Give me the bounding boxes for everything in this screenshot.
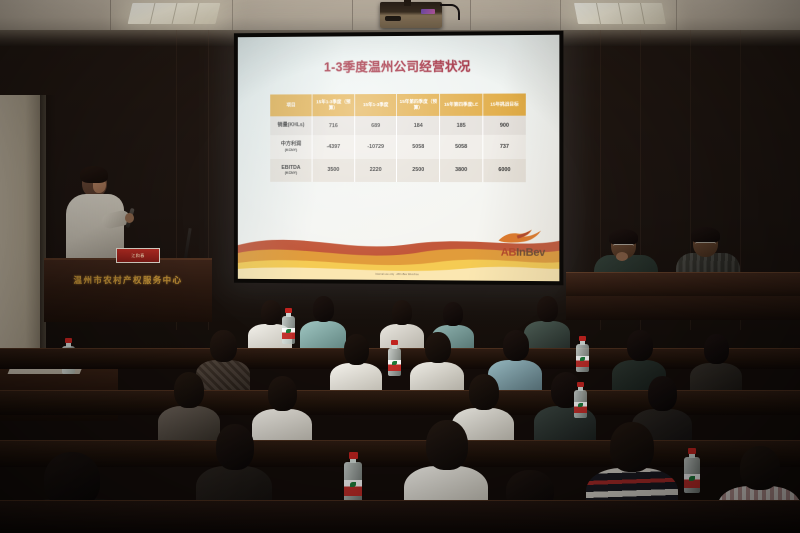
- cell-value: 2500: [397, 159, 440, 182]
- seated-man-hand: [616, 252, 628, 261]
- table-row: 中方利润 (KCNY) -4397 -10729 5058 5058 737: [270, 135, 526, 159]
- cell-value: 689: [354, 116, 396, 135]
- col-header-q4-budget: 15年第四季度（预算）: [397, 94, 440, 117]
- cell-value: -4397: [312, 135, 354, 158]
- cell-value: 3800: [440, 159, 483, 183]
- water-bottle: [344, 452, 362, 502]
- projector-lens: [385, 16, 401, 21]
- row-label-volume: 销量(KHLs): [270, 117, 312, 136]
- panel-desk-front: [566, 272, 800, 299]
- cell-value: 3500: [312, 159, 354, 182]
- nameplate: 江和春: [116, 248, 160, 263]
- cell-value: 184: [397, 116, 440, 135]
- projector-mount: [404, 0, 411, 6]
- water-bottle: [282, 308, 295, 344]
- col-header-q1q3-budget: 15年1-3季度（预算）: [312, 94, 354, 116]
- panel-desk-lower: [566, 296, 800, 320]
- row-unit-text: (KCNY): [271, 171, 311, 176]
- podium-sign-text: 温州市农村产权服务中心: [44, 274, 212, 286]
- slide-fineprint: Internal use only · AB InBev Wenzhou: [375, 273, 419, 276]
- seat-row: [0, 500, 800, 533]
- row-label-text: EBITDA: [281, 164, 300, 170]
- row-label-text: 销量(KHLs): [277, 123, 304, 129]
- projector-icon: [380, 2, 442, 28]
- table-header-row: 项目 15年1-3季度（预算） 15年1-3季度 15年第四季度（预算） 15年…: [270, 93, 526, 116]
- row-label-text: 中方利润: [281, 141, 301, 147]
- water-bottle: [388, 340, 401, 376]
- slide-data-table: 项目 15年1-3季度（预算） 15年1-3季度 15年第四季度（预算） 15年…: [270, 93, 526, 182]
- ceiling-light-right: [574, 3, 666, 24]
- cell-value: 716: [312, 116, 354, 135]
- podium: 江和春 温州市农村产权服务中心: [44, 258, 212, 322]
- projector-cable: [440, 4, 460, 20]
- row-label-ebitda: EBITDA (KCNY): [270, 159, 312, 182]
- row-unit-text: (KCNY): [271, 148, 311, 153]
- cell-value: 5058: [440, 135, 483, 159]
- projection-screen: 1-3季度温州公司经营状况 项目 15年1-3季度（预算） 15年1-3季度 1…: [234, 31, 564, 286]
- slide-surface: 1-3季度温州公司经营状况 项目 15年1-3季度（预算） 15年1-3季度 1…: [238, 35, 560, 281]
- audience-person: [330, 334, 382, 394]
- row-label-profit: 中方利润 (KCNY): [270, 135, 312, 158]
- cell-value: 900: [483, 116, 526, 135]
- nameplate-text: 江和春: [117, 249, 159, 262]
- cell-value: 185: [440, 116, 483, 135]
- abinbev-logo-part1: AB: [501, 247, 516, 259]
- glasses-icon: [613, 244, 634, 249]
- col-header-q4-le: 15年第四季度LE: [440, 94, 483, 117]
- col-header-q1q3: 15年1-3季度: [354, 94, 396, 116]
- table-row: 销量(KHLs) 716 689 184 185 900: [270, 116, 526, 135]
- water-bottle: [684, 448, 700, 494]
- table-row: EBITDA (KCNY) 3500 2220 2500 3800 6000: [270, 159, 526, 183]
- presenter-hair: [80, 166, 108, 183]
- cell-value: 2220: [354, 159, 396, 182]
- seated-man-hair: [691, 227, 720, 243]
- seated-man-hair: [609, 229, 638, 245]
- abinbev-logo-part2: InBev: [516, 247, 545, 259]
- water-bottle: [574, 382, 587, 418]
- presenter-hand: [125, 213, 134, 223]
- slide-title: 1-3季度温州公司经营状况: [238, 55, 560, 76]
- cell-value: 5058: [397, 135, 440, 158]
- projector-indicator: [421, 9, 435, 14]
- cell-value: 737: [483, 135, 526, 159]
- conference-room-photo: 1-3季度温州公司经营状况 项目 15年1-3季度（预算） 15年1-3季度 1…: [0, 0, 800, 533]
- glasses-icon: [695, 242, 716, 247]
- ceiling-light-left: [128, 3, 221, 24]
- audience-person: [690, 334, 742, 394]
- col-header-stretch: 15年挑战目标: [483, 93, 526, 116]
- water-bottle: [576, 336, 589, 372]
- col-header-item: 项目: [270, 94, 312, 116]
- cell-value: 6000: [483, 159, 526, 183]
- abinbev-logo: ABInBev: [501, 247, 545, 259]
- cell-value: -10729: [354, 135, 396, 158]
